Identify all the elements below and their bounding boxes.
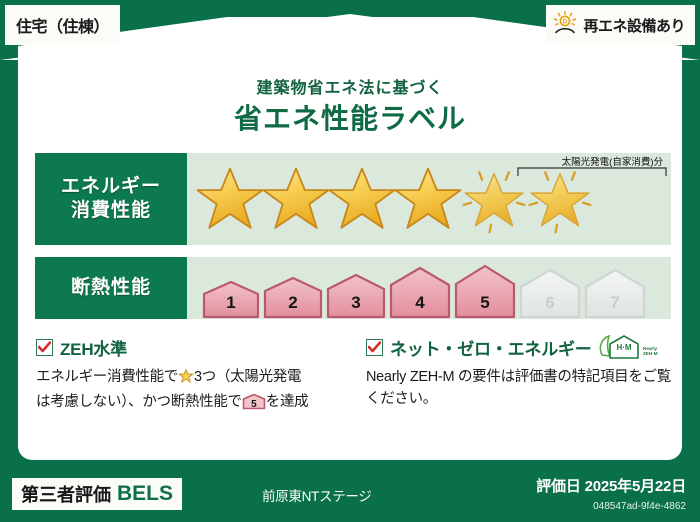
energy-label-line1: エネルギー [61,175,161,199]
bels-certification-box: 第三者評価 BELS [12,478,182,510]
sun-energy-icon: D [552,10,578,41]
zeh-body-part2: は考慮しない）、かつ断熱性能で [36,394,242,410]
inline-house-value: 5 [242,400,266,410]
zeh-standard-checkbox [36,339,53,356]
insulation-level-5-number: 5 [453,293,517,313]
label-footer: 第三者評価 BELS 前原東NTステージ 評価日 2025年5月22日 0485… [0,460,700,522]
insulation-performance-body: 1 2 3 [187,257,671,319]
label-panel: 建築物省エネ法に基づく 省エネ性能ラベル エネルギー 消費性能 太陽光発電(自家… [18,17,682,460]
insulation-level-4: 4 [388,265,452,319]
renewable-equipment-badge: D 再エネ設備あり [546,5,695,45]
renewable-equipment-label: 再エネ設備あり [583,15,685,36]
zeh-standard-body: エネルギー消費性能で 3つ（太陽光発電は考慮しない）、かつ断熱性能で 5 を達成 [36,366,356,414]
energy-label-line2: 消費性能 [71,199,151,223]
insulation-level-1: 1 [201,279,261,319]
third-party-eval-label: 第三者評価 [21,481,111,507]
net-zero-energy-heading: ネット・ゼロ・エネルギー [390,335,592,360]
star-solar-6 [523,162,597,236]
net-zero-energy-checkbox [366,339,383,356]
bels-logo-label: BELS [117,482,173,506]
zeh-m-logo-icon: H·M Nearly ZEH-M [599,333,659,361]
svg-text:H·M: H·M [616,343,631,352]
energy-performance-label: エネルギー 消費性能 [35,153,187,245]
building-name: 前原東NTステージ [262,485,372,505]
net-zero-energy-body: Nearly ZEH-M の要件は評価書の特記項目をご覧ください。 [366,366,674,411]
energy-performance-row: エネルギー 消費性能 太陽光発電(自家消費)分 [35,153,671,245]
svg-text:D: D [563,18,568,25]
star-rating-group [193,153,667,245]
bels-energy-label: 建築物省エネ法に基づく 省エネ性能ラベル エネルギー 消費性能 太陽光発電(自家… [0,0,700,522]
star-filled-4 [391,162,465,236]
label-subtitle: 建築物省エネ法に基づく [18,74,682,98]
zeh-standard-note: ZEH水準 エネルギー消費性能で 3つ（太陽光発電は考慮しない）、かつ断熱性能で… [36,335,356,414]
inline-house-icon: 5 [242,393,266,410]
svg-text:ZEH-M: ZEH-M [643,351,658,356]
insulation-level-7: 7 [583,267,647,319]
evaluation-id: 048547ad-9f4e-4862 [593,501,686,512]
building-type-tag: 住宅（住棟） [5,5,120,45]
inline-star-icon [178,368,194,391]
zeh-standard-heading: ZEH水準 [60,335,127,360]
zeh-body-star-count: 3つ（太陽光発電 [194,369,301,385]
insulation-performance-row: 断熱性能 [35,257,671,319]
insulation-level-group: 1 2 3 [201,257,671,319]
insulation-level-3-number: 3 [325,293,387,313]
insulation-level-3: 3 [325,272,387,319]
insulation-level-7-number: 7 [583,293,647,313]
insulation-performance-label: 断熱性能 [35,257,187,319]
insulation-level-5: 5 [453,263,517,319]
insulation-level-2: 2 [262,275,324,319]
insulation-level-6: 6 [518,267,582,319]
insulation-level-1-number: 1 [201,293,261,313]
zeh-body-part1: エネルギー消費性能で [36,369,178,385]
evaluation-date: 評価日 2025年5月22日 [536,475,686,496]
star-filled-1 [193,162,267,236]
insulation-level-2-number: 2 [262,293,324,313]
star-filled-3 [325,162,399,236]
insulation-level-4-number: 4 [388,293,452,313]
label-title: 省エネ性能ラベル [18,97,682,137]
star-solar-5 [457,162,531,236]
zeh-body-part3: を達成 [266,394,309,410]
insulation-level-6-number: 6 [518,293,582,313]
notes-section: ZEH水準 エネルギー消費性能で 3つ（太陽光発電は考慮しない）、かつ断熱性能で… [18,335,682,455]
net-zero-energy-note: ネット・ゼロ・エネルギー H·M Nearly ZEH-M Nearly ZEH… [366,335,674,411]
energy-performance-body: 太陽光発電(自家消費)分 [187,153,671,245]
star-filled-2 [259,162,333,236]
